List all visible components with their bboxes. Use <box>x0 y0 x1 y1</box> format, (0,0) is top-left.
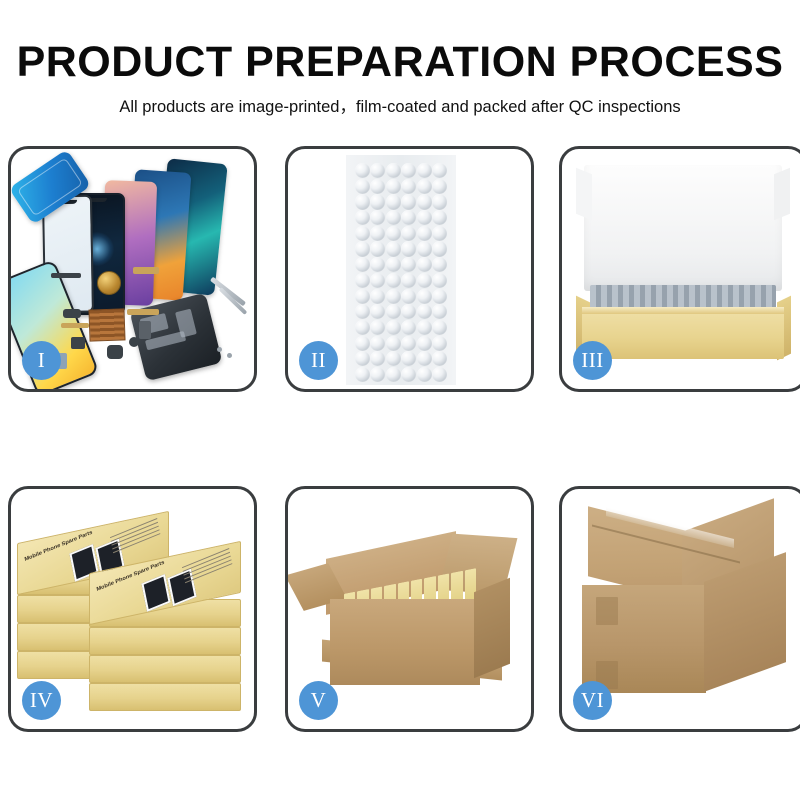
screws-2-icon <box>227 353 232 358</box>
bubble-icon <box>417 163 432 178</box>
bubble-icon <box>386 289 401 304</box>
bubble-icon <box>355 194 370 209</box>
bubble-icon <box>432 367 447 382</box>
bubble-icon <box>417 304 432 319</box>
part-small-module-icon <box>71 337 85 349</box>
bubble-icon <box>386 351 401 366</box>
bubble-icon <box>370 163 385 178</box>
bubble-icon <box>432 163 447 178</box>
bubble-icon <box>417 367 432 382</box>
step-panel-6: VI <box>559 486 800 732</box>
bubble-icon <box>401 226 416 241</box>
bubble-icon <box>355 179 370 194</box>
part-strip-icon <box>51 273 81 278</box>
bubble-icon <box>432 351 447 366</box>
bubble-icon <box>432 289 447 304</box>
bubble-icon <box>401 257 416 272</box>
bubble-icon <box>386 273 401 288</box>
bubble-icon <box>370 257 385 272</box>
stack-slab <box>89 683 241 711</box>
bubble-icon <box>417 336 432 351</box>
bubble-icon <box>432 320 447 335</box>
step-panel-4: Mobile Phone Spare Parts Mobile Phone Sp… <box>8 486 257 732</box>
stack-slab <box>89 627 241 655</box>
step-badge-3: III <box>573 341 612 380</box>
bubble-icon <box>370 226 385 241</box>
bubble-icon <box>370 367 385 382</box>
flex-cable-top-icon <box>133 267 159 274</box>
bubble-icon <box>432 194 447 209</box>
bubble-icon <box>417 289 432 304</box>
step-panel-3: III <box>559 146 800 392</box>
box-lid-open-icon <box>584 165 782 291</box>
flex-cable-mid-icon <box>127 309 159 315</box>
spec-lines-icon <box>182 548 234 592</box>
bubble-icon <box>370 320 385 335</box>
bubble-icon <box>386 163 401 178</box>
bubble-icon <box>386 257 401 272</box>
bubble-icon <box>401 336 416 351</box>
bubble-icon <box>370 289 385 304</box>
box-front-panel-icon <box>582 311 784 359</box>
page-title: PRODUCT PREPARATION PROCESS <box>0 0 800 86</box>
process-step-grid: I II III <box>8 146 795 740</box>
step-panel-1: I <box>8 146 257 392</box>
spec-lines-icon <box>110 518 162 562</box>
bubble-icon <box>401 351 416 366</box>
bubble-icon <box>401 273 416 288</box>
bubble-icon <box>386 226 401 241</box>
bubble-icon <box>432 241 447 256</box>
bubble-icon <box>370 273 385 288</box>
carton-body-icon <box>330 599 480 685</box>
tweezers-icon <box>210 277 246 307</box>
bubble-wrap-pouch-icon <box>346 155 456 385</box>
bubble-icon <box>417 351 432 366</box>
product-preparation-infographic: PRODUCT PREPARATION PROCESS All products… <box>0 0 800 800</box>
step-badge-1: I <box>22 341 61 380</box>
bubble-icon <box>401 289 416 304</box>
part-camera-icon <box>107 345 123 359</box>
bubble-icon <box>417 179 432 194</box>
stack-slab <box>89 655 241 683</box>
step-panel-5: V <box>285 486 534 732</box>
bubble-icon <box>370 351 385 366</box>
part-battery-icon <box>139 321 151 339</box>
bubble-icon <box>401 210 416 225</box>
carton-side-icon <box>474 578 510 679</box>
bubble-icon <box>432 304 447 319</box>
bubble-icon <box>417 273 432 288</box>
bubble-icon <box>355 241 370 256</box>
bubble-icon <box>355 320 370 335</box>
bubble-icon <box>401 367 416 382</box>
bubble-icon <box>355 351 370 366</box>
step-badge-6: VI <box>573 681 612 720</box>
box-rim-icon <box>582 307 784 314</box>
bubble-icon <box>355 163 370 178</box>
bubble-icon <box>355 273 370 288</box>
part-connector-icon <box>63 309 81 318</box>
bubble-icon <box>417 241 432 256</box>
bubble-icon <box>432 179 447 194</box>
screen-image-icon <box>141 574 170 612</box>
bubble-icon <box>417 257 432 272</box>
bubble-icon <box>355 289 370 304</box>
bubble-icon <box>417 194 432 209</box>
step-badge-5: V <box>299 681 338 720</box>
bubble-icon <box>432 210 447 225</box>
header: PRODUCT PREPARATION PROCESS All products… <box>0 0 800 117</box>
bubble-icon <box>432 273 447 288</box>
carton-tab-upper-icon <box>596 597 618 625</box>
page-subtitle: All products are image-printed，film-coat… <box>0 86 800 117</box>
bubble-icon <box>370 179 385 194</box>
speaker-module-icon <box>97 271 121 295</box>
bubble-icon <box>355 304 370 319</box>
bubble-icon <box>386 179 401 194</box>
bubble-icon <box>417 320 432 335</box>
bubble-icon <box>432 336 447 351</box>
bubble-grid <box>355 163 447 377</box>
bubble-icon <box>386 304 401 319</box>
bubble-icon <box>432 226 447 241</box>
bubble-icon <box>355 226 370 241</box>
bubble-icon <box>386 241 401 256</box>
part-button-icon <box>129 337 139 347</box>
bubble-icon <box>401 304 416 319</box>
step-badge-2: II <box>299 341 338 380</box>
flex-cable-low-icon <box>61 323 89 328</box>
bubble-icon <box>401 241 416 256</box>
screws-icon <box>217 347 222 352</box>
bubble-icon <box>370 241 385 256</box>
bubble-icon <box>355 367 370 382</box>
bubble-icon <box>355 257 370 272</box>
bubble-icon <box>386 320 401 335</box>
bubble-icon <box>401 163 416 178</box>
bubble-icon <box>370 336 385 351</box>
bubble-icon <box>370 210 385 225</box>
bubble-icon <box>417 210 432 225</box>
bubble-icon <box>355 336 370 351</box>
bubble-icon <box>386 210 401 225</box>
bubble-icon <box>401 179 416 194</box>
bubble-icon <box>386 336 401 351</box>
step-badge-4: IV <box>22 681 61 720</box>
bubble-icon <box>386 367 401 382</box>
bubble-icon <box>370 304 385 319</box>
bubble-icon <box>401 320 416 335</box>
bubble-icon <box>386 194 401 209</box>
bubble-icon <box>417 226 432 241</box>
bubble-icon <box>355 210 370 225</box>
step-panel-2: II <box>285 146 534 392</box>
bubble-icon <box>401 194 416 209</box>
bubble-icon <box>432 257 447 272</box>
chip-array-icon <box>88 308 125 341</box>
bubble-icon <box>370 194 385 209</box>
